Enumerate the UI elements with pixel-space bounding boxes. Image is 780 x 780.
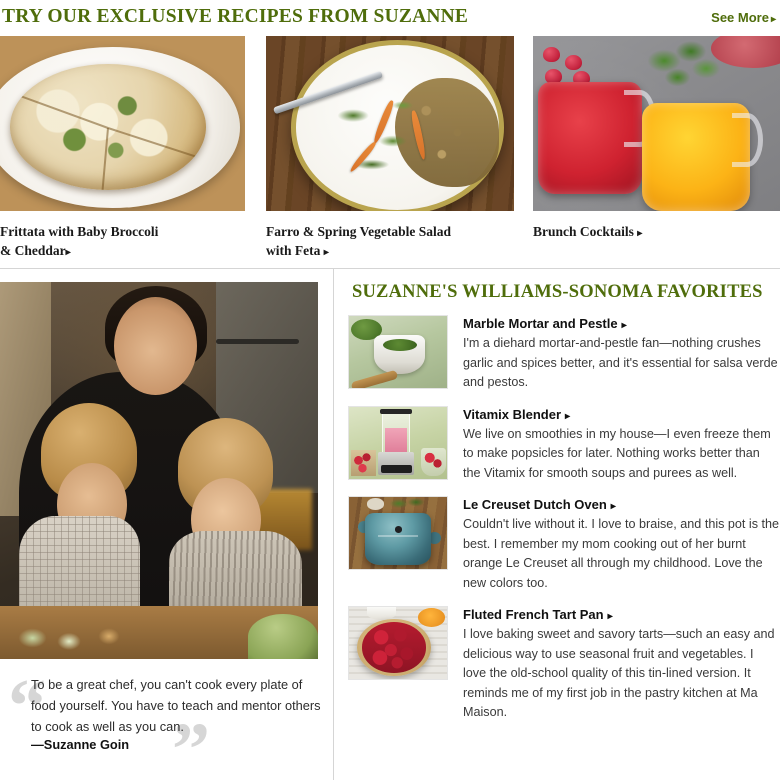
blender-base-shape (378, 452, 413, 475)
favorite-item-name[interactable]: Le Creuset Dutch Oven▸ (463, 497, 780, 512)
favorite-item-description: I'm a diehard mortar-and-pestle fan—noth… (463, 334, 780, 393)
favorite-item-name-label: Marble Mortar and Pestle (463, 316, 618, 331)
dutch-oven-shape (365, 513, 432, 565)
garlic-shape (367, 498, 385, 510)
recipe-card-frittata[interactable]: Frittata with Baby Broccoli & Cheddar▸ (0, 36, 245, 262)
woman-face-shape (114, 297, 197, 395)
page-root: TRY OUR EXCLUSIVE RECIPES FROM SUZANNE S… (0, 0, 780, 780)
recipe-caption[interactable]: Farro & Spring Vegetable Salad with Feta… (266, 222, 514, 262)
pestle-shape (351, 369, 399, 389)
favorite-item-name[interactable]: Fluted French Tart Pan▸ (463, 607, 780, 622)
tart-pan-photo-art (349, 607, 447, 679)
orange-juice-pitcher-shape (642, 103, 751, 212)
blender-photo-art (349, 407, 447, 479)
chevron-right-icon: ▸ (324, 247, 329, 258)
strawberries-shape (421, 448, 446, 475)
favorite-item-mortar-and-pestle[interactable]: Marble Mortar and Pestle▸ I'm a diehard … (348, 315, 780, 393)
white-bowl-shape (367, 607, 396, 620)
red-juice-pitcher-shape (538, 82, 642, 194)
recipe-caption-line1: Frittata with Baby Broccoli (0, 224, 158, 239)
raspberry-shape (543, 47, 560, 62)
chevron-right-icon: ▸ (565, 411, 570, 422)
quote-attribution: —Suzanne Goin (31, 737, 129, 752)
mortar-bowl-shape (374, 335, 425, 374)
handle-shape (216, 339, 299, 344)
recipe-caption-line2: with Feta (266, 243, 320, 258)
favorite-item-body: Fluted French Tart Pan▸ I love baking sw… (463, 606, 780, 723)
suzanne-cooking-with-children-photo (0, 282, 318, 659)
chevron-right-icon: ▸ (637, 228, 642, 239)
recipe-caption[interactable]: Frittata with Baby Broccoli & Cheddar▸ (0, 222, 245, 262)
recipe-caption-line1: Farro & Spring Vegetable Salad (266, 224, 451, 239)
chevron-right-icon: ▸ (611, 501, 616, 512)
vitamix-blender-thumbnail[interactable] (348, 406, 448, 480)
marble-mortar-and-pestle-thumbnail[interactable] (348, 315, 448, 389)
berry-filling-shape (362, 622, 427, 672)
favorite-item-body: Vitamix Blender▸ We live on smoothies in… (463, 406, 780, 484)
favorite-item-name-label: Le Creuset Dutch Oven (463, 497, 607, 512)
recipe-caption-line1: Brunch Cocktails (533, 224, 634, 239)
farro-salad-photo[interactable] (266, 36, 514, 211)
favorite-item-name[interactable]: Vitamix Blender▸ (463, 407, 780, 422)
chevron-right-icon: ▸ (622, 320, 627, 331)
blender-jar-shape (382, 412, 409, 452)
fluted-french-tart-pan-thumbnail[interactable] (348, 606, 448, 680)
frittata-photo[interactable] (0, 36, 245, 211)
favorites-section: SUZANNE'S WILLIAMS-SONOMA FAVORITES Marb… (348, 282, 780, 736)
favorite-item-description: I love baking sweet and savory tarts—suc… (463, 625, 780, 723)
favorite-item-le-creuset-dutch-oven[interactable]: Le Creuset Dutch Oven▸ Couldn't live wit… (348, 496, 780, 593)
dutch-oven-photo-art (349, 497, 447, 569)
section-header: TRY OUR EXCLUSIVE RECIPES FROM SUZANNE S… (0, 6, 780, 36)
pull-quote: “ ” To be a great chef, you can't cook e… (0, 664, 332, 780)
recipe-caption-line2: & Cheddar (0, 243, 66, 258)
herbs-shape (386, 497, 429, 510)
chevron-right-icon: ▸ (771, 14, 776, 25)
favorite-item-description: Couldn't live without it. I love to brai… (463, 515, 780, 593)
recipe-card-brunch-cocktails[interactable]: Brunch Cocktails ▸ (533, 36, 780, 243)
le-creuset-dutch-oven-thumbnail[interactable] (348, 496, 448, 570)
frittata-shape (10, 64, 206, 190)
lid-knob-shape (395, 526, 402, 532)
favorite-item-name-label: Vitamix Blender (463, 407, 561, 422)
quote-text: To be a great chef, you can't cook every… (31, 674, 329, 737)
favorite-item-name[interactable]: Marble Mortar and Pestle▸ (463, 316, 780, 331)
orange-fruit-shape (418, 608, 445, 627)
favorite-item-description: We live on smoothies in my house—I even … (463, 425, 780, 484)
favorite-item-fluted-french-tart-pan[interactable]: Fluted French Tart Pan▸ I love baking sw… (348, 606, 780, 723)
favorites-title: SUZANNE'S WILLIAMS-SONOMA FAVORITES (352, 282, 780, 303)
blender-lid-shape (380, 409, 411, 415)
lid-edge-shape (378, 535, 418, 537)
brunch-cocktails-photo[interactable] (533, 36, 780, 211)
see-more-link[interactable]: See More▸ (711, 10, 776, 25)
raspberry-shape (565, 55, 582, 70)
page-title: TRY OUR EXCLUSIVE RECIPES FROM SUZANNE (2, 6, 468, 28)
see-more-label: See More (711, 10, 769, 25)
recipe-caption[interactable]: Brunch Cocktails ▸ (533, 222, 780, 243)
recipe-card-farro-salad[interactable]: Farro & Spring Vegetable Salad with Feta… (266, 36, 514, 262)
slice-cut-line (12, 92, 108, 129)
slice-cut-line (98, 128, 109, 190)
favorite-item-vitamix-blender[interactable]: Vitamix Blender▸ We live on smoothies in… (348, 406, 780, 484)
favorite-item-body: Le Creuset Dutch Oven▸ Couldn't live wit… (463, 496, 780, 593)
chevron-right-icon: ▸ (66, 247, 71, 258)
vertical-divider (333, 269, 334, 780)
feature-photo[interactable] (0, 282, 318, 659)
vegetables-shape (6, 621, 171, 655)
slice-cut-line (107, 127, 205, 160)
mortar-photo-art (349, 316, 447, 388)
favorite-item-name-label: Fluted French Tart Pan (463, 607, 604, 622)
chevron-right-icon: ▸ (608, 611, 613, 622)
strawberries-shape (351, 450, 376, 476)
favorite-item-body: Marble Mortar and Pestle▸ I'm a diehard … (463, 315, 780, 393)
recipe-strip: Frittata with Baby Broccoli & Cheddar▸ F… (0, 36, 780, 268)
horizontal-divider (0, 268, 780, 269)
vegetables-shape (248, 614, 318, 659)
